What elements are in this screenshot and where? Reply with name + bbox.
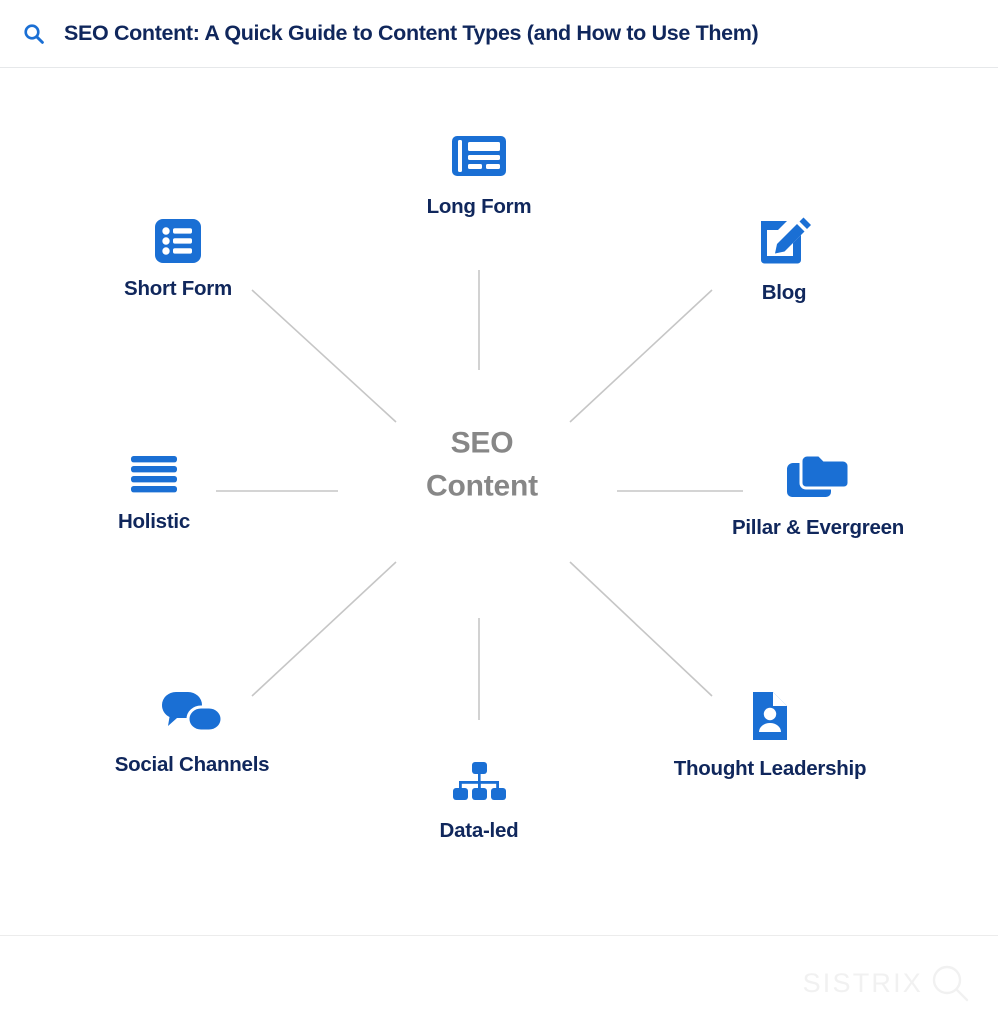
seo-content-diagram: SEO Content Long Form	[0, 68, 998, 935]
node-label: Thought Leadership	[674, 757, 867, 781]
node-label: Social Channels	[115, 753, 270, 777]
hub-line-2: Content	[352, 465, 612, 508]
node-label: Data-led	[440, 819, 519, 843]
node-data-led[interactable]: Data-led	[339, 760, 619, 843]
node-short-form[interactable]: Short Form	[38, 218, 318, 301]
bulleted-list-icon	[153, 218, 203, 264]
page-header: SEO Content: A Quick Guide to Content Ty…	[0, 0, 998, 68]
node-pillar-evergreen[interactable]: Pillar & Evergreen	[678, 451, 958, 540]
node-thought-leadership[interactable]: Thought Leadership	[630, 688, 910, 781]
node-label: Long Form	[427, 195, 532, 219]
double-folder-icon	[785, 451, 851, 503]
article-newspaper-icon	[448, 130, 510, 182]
infographic-page: SEO Content: A Quick Guide to Content Ty…	[0, 0, 998, 1024]
node-label: Blog	[762, 281, 807, 305]
connector-short-form	[252, 290, 396, 422]
stacked-bars-icon	[129, 453, 179, 497]
node-label: Pillar & Evergreen	[732, 516, 904, 540]
connector-thought-leadership	[570, 562, 712, 696]
chat-bubbles-icon	[158, 688, 226, 740]
node-label: Short Form	[124, 277, 232, 301]
brand-name: SISTRIX	[803, 968, 923, 999]
sitemap-hierarchy-icon	[448, 760, 510, 806]
diagram-hub: SEO Content	[352, 422, 612, 507]
node-label: Holistic	[118, 510, 190, 534]
node-social-channels[interactable]: Social Channels	[52, 688, 332, 777]
node-long-form[interactable]: Long Form	[339, 130, 619, 219]
search-icon[interactable]	[21, 21, 47, 47]
connector-social-channels	[252, 562, 396, 696]
node-holistic[interactable]: Holistic	[14, 453, 294, 534]
edit-pencil-square-icon	[753, 216, 815, 268]
hub-line-1: SEO	[352, 422, 612, 465]
document-person-icon	[747, 688, 793, 744]
page-title: SEO Content: A Quick Guide to Content Ty…	[64, 21, 758, 46]
magnifier-logo-icon	[930, 963, 970, 1003]
connector-blog	[570, 290, 712, 422]
page-footer: SISTRIX	[0, 935, 998, 1024]
sistrix-brand-logo: SISTRIX	[803, 963, 970, 1003]
node-blog[interactable]: Blog	[644, 216, 924, 305]
